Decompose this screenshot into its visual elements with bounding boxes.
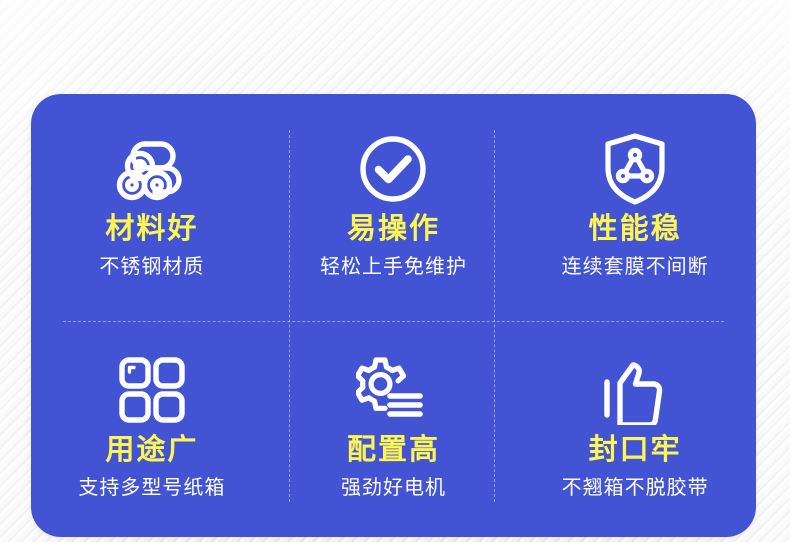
grid-squares-icon xyxy=(117,352,187,428)
feature-title: 用途广 xyxy=(105,434,198,467)
feature-item-secure-sealing: 封口牢 不翘箱不脱胶带 xyxy=(514,316,756,538)
feature-subtitle: 支持多型号纸箱 xyxy=(78,476,225,500)
feature-title: 配置高 xyxy=(347,434,440,467)
feature-item-easy-operation: 易操作 轻松上手免维护 xyxy=(273,94,515,316)
check-circle-icon xyxy=(358,131,428,207)
feature-title: 封口牢 xyxy=(589,434,682,467)
feature-item-stable-performance: 性能稳 连续套膜不间断 xyxy=(514,94,756,316)
page-root: 材料好 不锈钢材质 易操作 轻松上手免维护 xyxy=(0,0,790,542)
feature-item-material: 材料好 不锈钢材质 xyxy=(31,94,273,316)
feature-subtitle: 轻松上手免维护 xyxy=(320,255,467,279)
feature-subtitle: 不翘箱不脱胶带 xyxy=(562,476,709,500)
feature-title: 性能稳 xyxy=(589,213,682,246)
feature-subtitle: 强劲好电机 xyxy=(341,476,446,500)
feature-title: 易操作 xyxy=(347,213,440,246)
steel-rolls-icon xyxy=(115,131,189,207)
feature-subtitle: 连续套膜不间断 xyxy=(562,255,709,279)
feature-item-high-config: 配置高 强劲好电机 xyxy=(273,316,515,538)
thumbs-up-icon xyxy=(600,352,670,428)
feature-item-wide-usage: 用途广 支持多型号纸箱 xyxy=(31,316,273,538)
feature-highlight-card: 材料好 不锈钢材质 易操作 轻松上手免维护 xyxy=(31,94,756,537)
shield-network-icon xyxy=(602,131,668,207)
feature-title: 材料好 xyxy=(105,213,198,246)
feature-grid: 材料好 不锈钢材质 易操作 轻松上手免维护 xyxy=(31,94,756,537)
gear-settings-icon xyxy=(356,352,430,428)
feature-subtitle: 不锈钢材质 xyxy=(99,255,204,279)
